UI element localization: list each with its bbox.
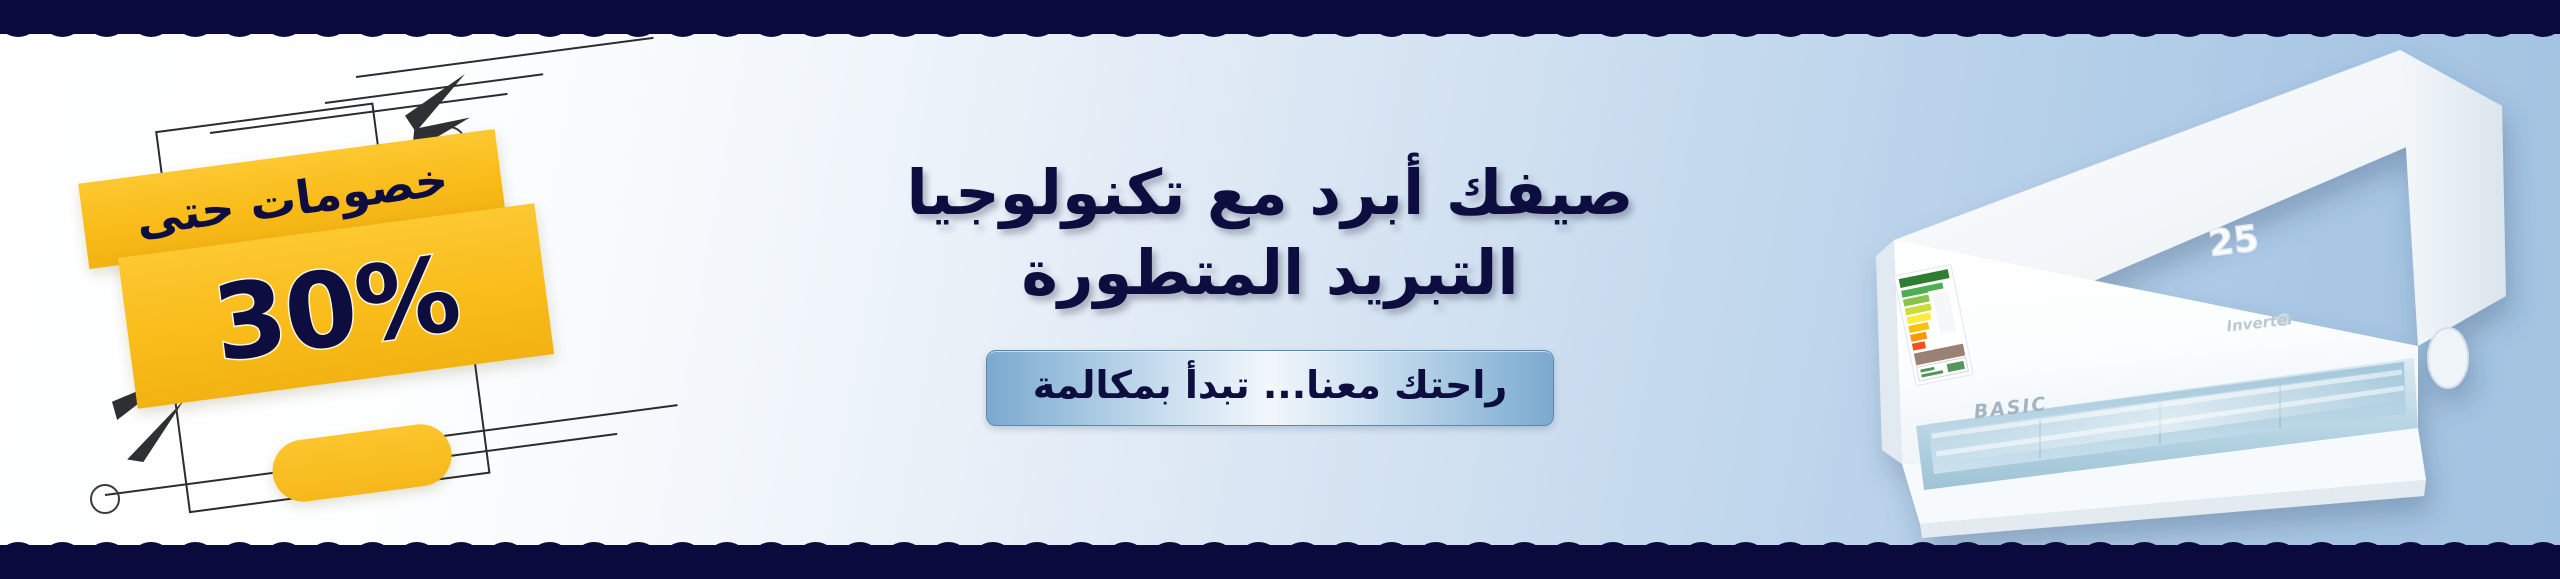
headline-group: صيفك أبرد مع تكنولوجيا التبريد المتطورة … bbox=[740, 34, 1800, 545]
page-title: صيفك أبرد مع تكنولوجيا التبريد المتطورة bbox=[907, 153, 1634, 312]
bottom-scallop-border bbox=[0, 539, 2560, 579]
air-conditioner-image: BASIC Inverter 25 bbox=[1790, 34, 2550, 545]
ac-body bbox=[1876, 50, 2506, 538]
decor-circle bbox=[90, 484, 120, 514]
discount-value-text: 30% bbox=[208, 241, 465, 376]
cta-button[interactable]: راحتك معنا... تبدأ بمكالمة bbox=[986, 350, 1555, 426]
headline-line-2: التبريد المتطورة bbox=[907, 233, 1634, 312]
ac-temperature-display: 25 bbox=[2206, 218, 2261, 265]
headline-line-1: صيفك أبرد مع تكنولوجيا bbox=[907, 153, 1634, 232]
decor-line bbox=[356, 37, 654, 78]
decor-triangle bbox=[126, 400, 184, 462]
discount-badge-group: خصومات حتى 30% bbox=[60, 44, 720, 544]
promo-banner: خصومات حتى 30% صيفك أبرد مع تكنولوجيا ال… bbox=[0, 0, 2560, 579]
banner-stage: خصومات حتى 30% صيفك أبرد مع تكنولوجيا ال… bbox=[0, 34, 2560, 545]
